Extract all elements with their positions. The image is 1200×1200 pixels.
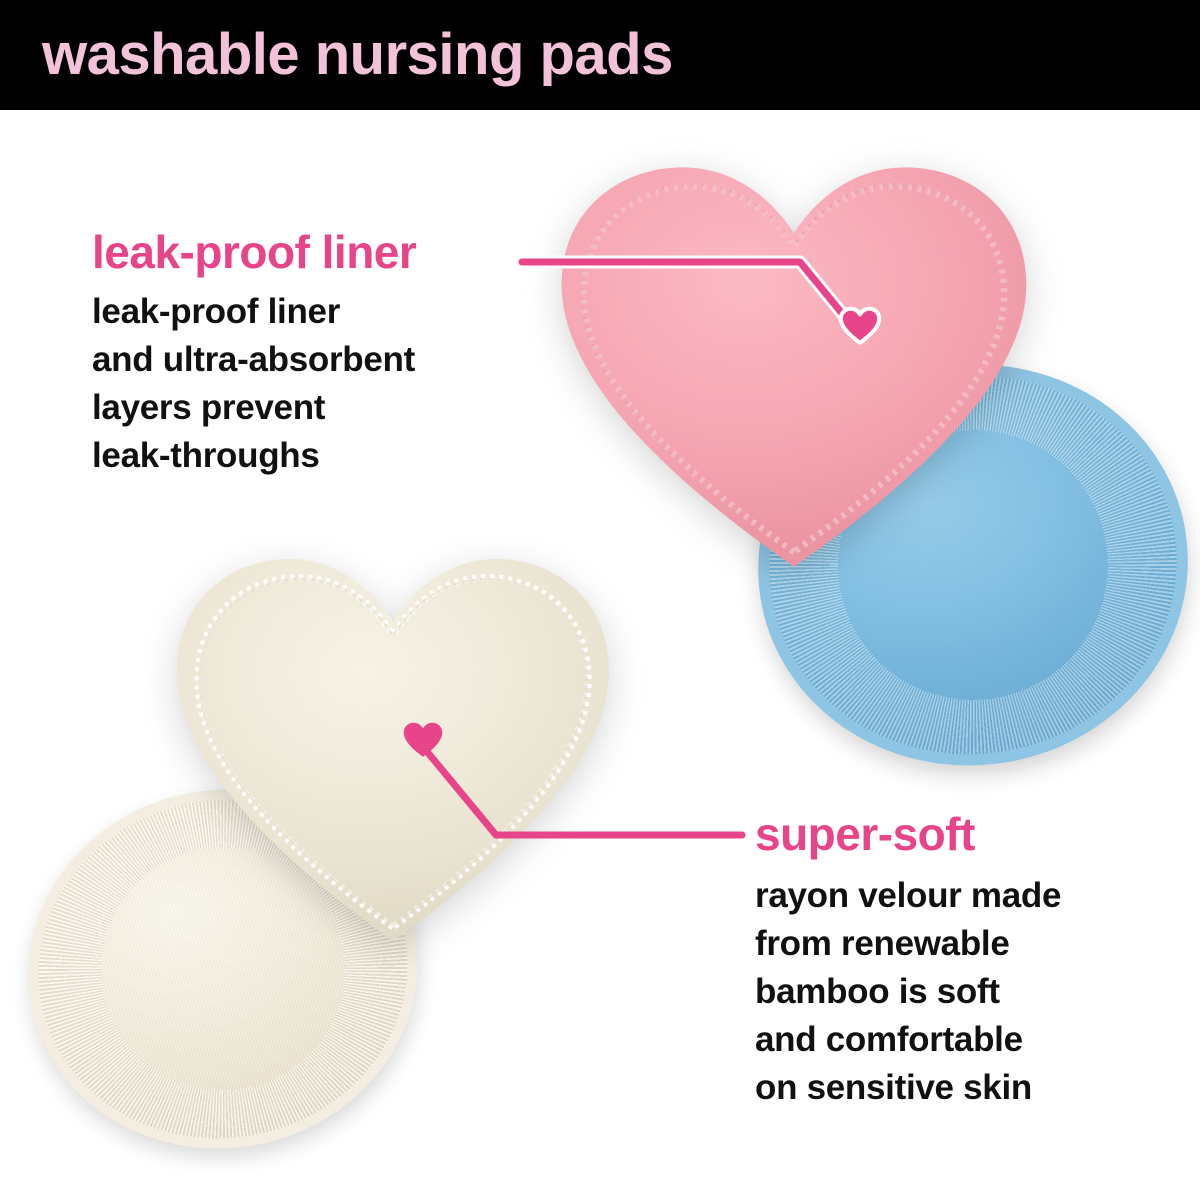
cream-heart-pad xyxy=(168,550,618,950)
callout-body-leak-proof-liner: leak-proof liner and ultra-absorbent lay… xyxy=(92,288,416,480)
header-bar: washable nursing pads xyxy=(0,0,1200,110)
callout-body-line: from renewable xyxy=(755,920,1061,968)
pink-heart-pad xyxy=(552,158,1036,576)
callout-body-line: leak-throughs xyxy=(92,432,416,480)
callout-leak-proof-liner: leak-proof liner leak-proof liner and ul… xyxy=(92,226,416,480)
callout-body-line: and comfortable xyxy=(755,1016,1061,1064)
callout-body-line: leak-proof liner xyxy=(92,288,416,336)
callout-body-super-soft: rayon velour made from renewable bamboo … xyxy=(755,872,1061,1112)
callout-title-super-soft: super-soft xyxy=(755,808,1061,860)
callout-body-line: on sensitive skin xyxy=(755,1064,1061,1112)
callout-title-leak-proof-liner: leak-proof liner xyxy=(92,226,416,278)
page-title: washable nursing pads xyxy=(42,22,673,88)
callout-body-line: rayon velour made xyxy=(755,872,1061,920)
callout-body-line: and ultra-absorbent xyxy=(92,336,416,384)
callout-body-line: bamboo is soft xyxy=(755,968,1061,1016)
infographic-root: washable nursing pads xyxy=(0,0,1200,1200)
callout-body-line: layers prevent xyxy=(92,384,416,432)
callout-super-soft: super-soft rayon velour made from renewa… xyxy=(755,808,1061,1112)
